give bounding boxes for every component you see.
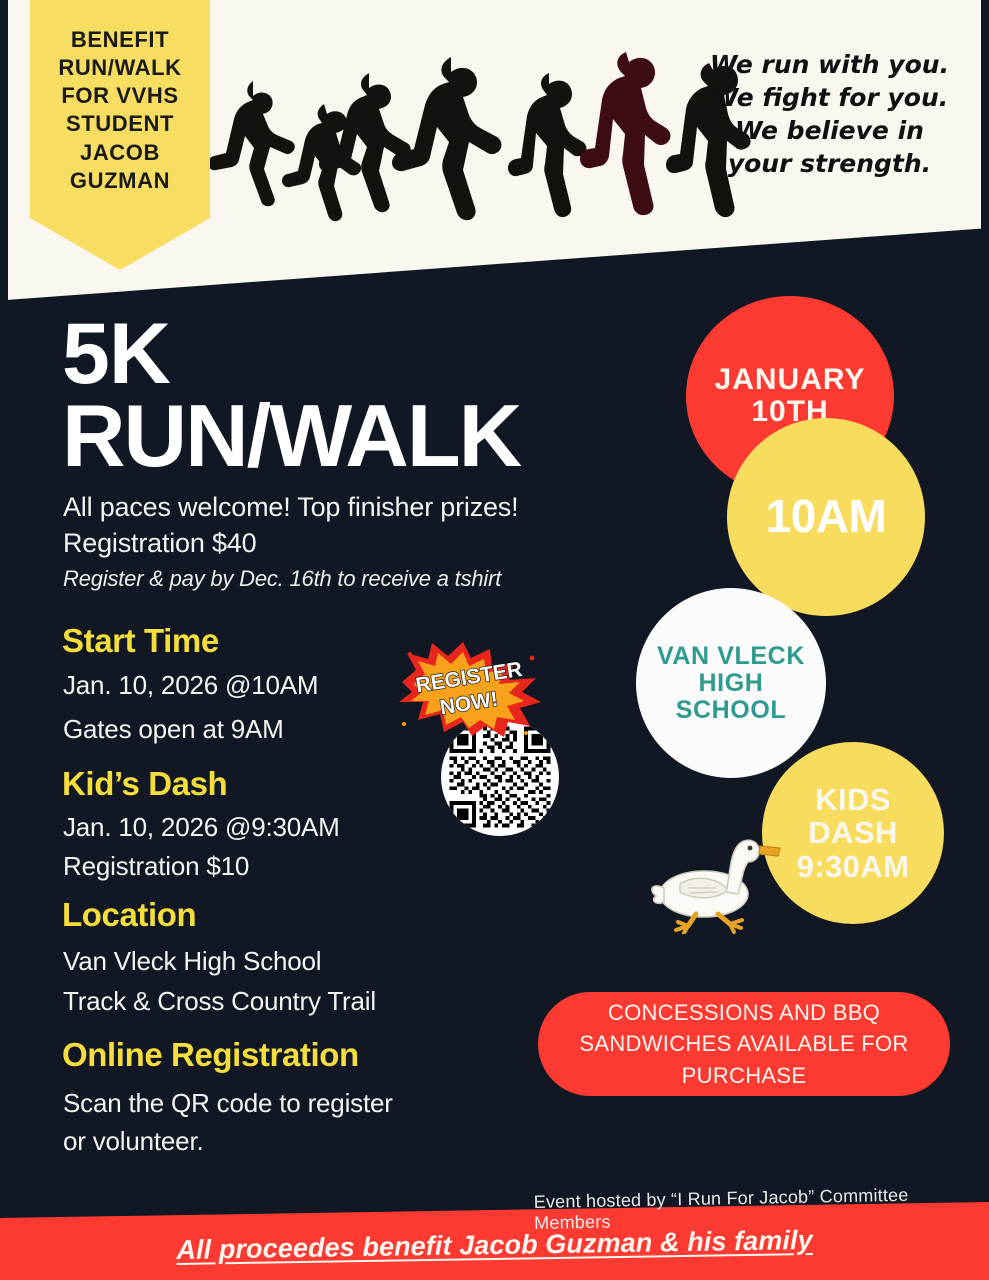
- page-title-distance: 5K: [62, 312, 170, 396]
- section-heading-start-time: Start Time: [62, 622, 219, 660]
- starburst-badge-icon[interactable]: REGISTER NOW!: [396, 640, 544, 738]
- kids-dash-line-1: Jan. 10, 2026 @9:30AM: [63, 812, 340, 843]
- tagline: We run with you. We fight for you. We be…: [702, 48, 957, 180]
- subtitle-registration-fee: Registration $40: [63, 528, 256, 559]
- concessions-banner: CONCESSIONS AND BBQ SANDWICHES AVAILABLE…: [538, 992, 950, 1096]
- benefit-ribbon: BENEFIT RUN/WALK FOR VVHS STUDENT JACOB …: [30, 0, 210, 270]
- start-time-line-1: Jan. 10, 2026 @10AM: [63, 670, 318, 701]
- subtitle-paces: All paces welcome! Top finisher prizes!: [63, 492, 518, 523]
- badge-time: 10AM: [727, 418, 925, 616]
- section-heading-location: Location: [62, 896, 196, 934]
- badge-time-label: 10AM: [758, 492, 895, 542]
- hosted-by-note: Event hosted by “I Run For Jacob” Commit…: [534, 1183, 989, 1234]
- running-goose-icon: [642, 812, 782, 934]
- badge-kids-dash-label: KIDS DASH 9:30AM: [789, 783, 918, 883]
- header-right-edge: [981, 0, 989, 232]
- subtitle-tshirt-deadline: Register & pay by Dec. 16th to receive a…: [63, 566, 501, 592]
- badge-school-label: VAN VLECK HIGH SCHOOL: [649, 643, 813, 724]
- badge-date-label: JANUARY 10TH: [707, 364, 874, 429]
- start-time-line-2: Gates open at 9AM: [63, 714, 284, 745]
- runner-silhouettes-icon: [205, 18, 765, 286]
- page-title-event: RUN/WALK: [62, 392, 520, 480]
- section-heading-kids-dash: Kid’s Dash: [62, 765, 227, 803]
- badge-school: VAN VLECK HIGH SCHOOL: [636, 588, 826, 778]
- event-flyer: BENEFIT RUN/WALK FOR VVHS STUDENT JACOB …: [0, 0, 989, 1280]
- location-line-2: Track & Cross Country Trail: [63, 986, 376, 1017]
- section-heading-online-registration: Online Registration: [62, 1036, 359, 1074]
- online-registration-line-2: or volunteer.: [63, 1126, 204, 1157]
- ribbon-label: BENEFIT RUN/WALK FOR VVHS STUDENT JACOB …: [58, 26, 181, 195]
- kids-dash-line-2: Registration $10: [63, 851, 249, 882]
- badge-kids-dash: KIDS DASH 9:30AM: [762, 742, 944, 924]
- online-registration-line-1: Scan the QR code to register: [63, 1088, 393, 1119]
- location-line-1: Van Vleck High School: [63, 946, 321, 977]
